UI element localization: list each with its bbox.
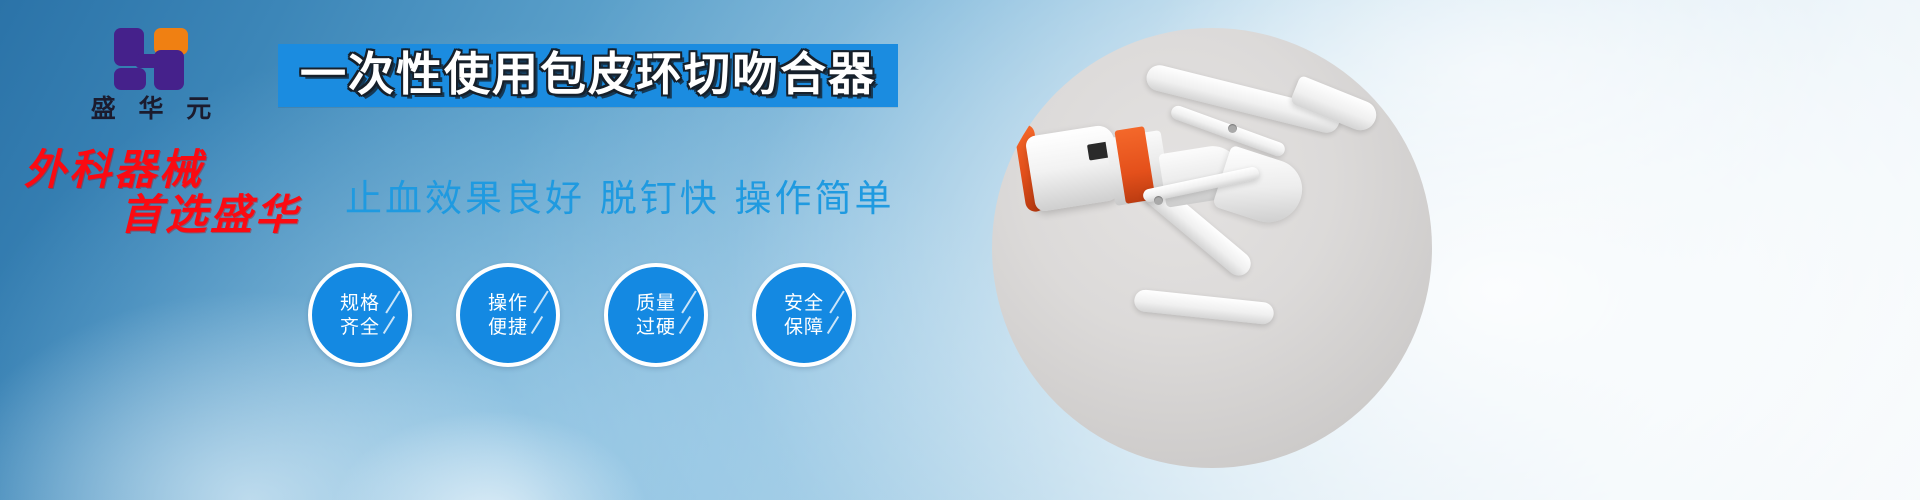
sheng-hua-yuan-logo-icon <box>114 28 188 90</box>
device-pivot-pin <box>1228 124 1237 133</box>
calligraphy-slogan: 外科器械 首选盛华 <box>24 148 354 237</box>
badge-label-line-1: 规格 <box>340 291 380 315</box>
feature-badge-safety[interactable]: 安全 保障 <box>752 263 856 367</box>
badge-slash-icon-secondary <box>531 316 543 334</box>
badge-slash-icon <box>829 290 844 313</box>
page-title: 一次性使用包皮环切吻合器 <box>300 51 876 98</box>
product-subtitle: 止血效果良好 脱钉快 操作简单 <box>345 168 895 222</box>
feature-badge-specification[interactable]: 规格 齐全 <box>308 263 412 367</box>
promo-banner: 盛 华 元 外科器械 首选盛华 一次性使用包皮环切吻合器 止血效果良好 脱钉快 … <box>0 0 1920 500</box>
badge-slash-icon <box>681 290 696 313</box>
badge-label-line-2: 齐全 <box>340 315 380 339</box>
device-lower-arm-tip <box>1133 289 1275 326</box>
brand-logo-block[interactable]: 盛 华 元 <box>66 28 236 121</box>
device-pivot-pin-secondary <box>1154 196 1163 205</box>
badge-slash-icon-secondary <box>827 316 839 334</box>
calligraphy-line-2: 首选盛华 <box>24 193 354 238</box>
badge-label-line-2: 保障 <box>784 315 824 339</box>
badge-label-line-1: 操作 <box>488 291 528 315</box>
background-glow-bottom-center <box>330 410 650 500</box>
device-body-cylinder <box>1025 124 1124 213</box>
product-title-bar: 一次性使用包皮环切吻合器 <box>278 44 898 107</box>
badge-slash-icon <box>533 290 548 313</box>
logo-connector-bar <box>136 54 160 68</box>
badge-label-line-2: 过硬 <box>636 315 676 339</box>
badge-slash-icon <box>385 290 400 313</box>
device-cone-tip <box>1212 145 1310 231</box>
badge-slash-icon-secondary <box>679 316 691 334</box>
badge-slash-icon-secondary <box>383 316 395 334</box>
badge-label-line-1: 质量 <box>636 291 676 315</box>
feature-badge-group: 规格 齐全 操作 便捷 质量 过硬 安全 保障 <box>308 263 856 367</box>
feature-badge-quality[interactable]: 质量 过硬 <box>604 263 708 367</box>
brand-name: 盛 华 元 <box>66 96 236 121</box>
product-photo <box>992 28 1432 468</box>
calligraphy-line-1: 外科器械 <box>24 148 354 193</box>
logo-square-lower-left <box>114 68 146 90</box>
badge-label-line-1: 安全 <box>784 291 824 315</box>
feature-badge-operation[interactable]: 操作 便捷 <box>456 263 560 367</box>
badge-label-line-2: 便捷 <box>488 315 528 339</box>
